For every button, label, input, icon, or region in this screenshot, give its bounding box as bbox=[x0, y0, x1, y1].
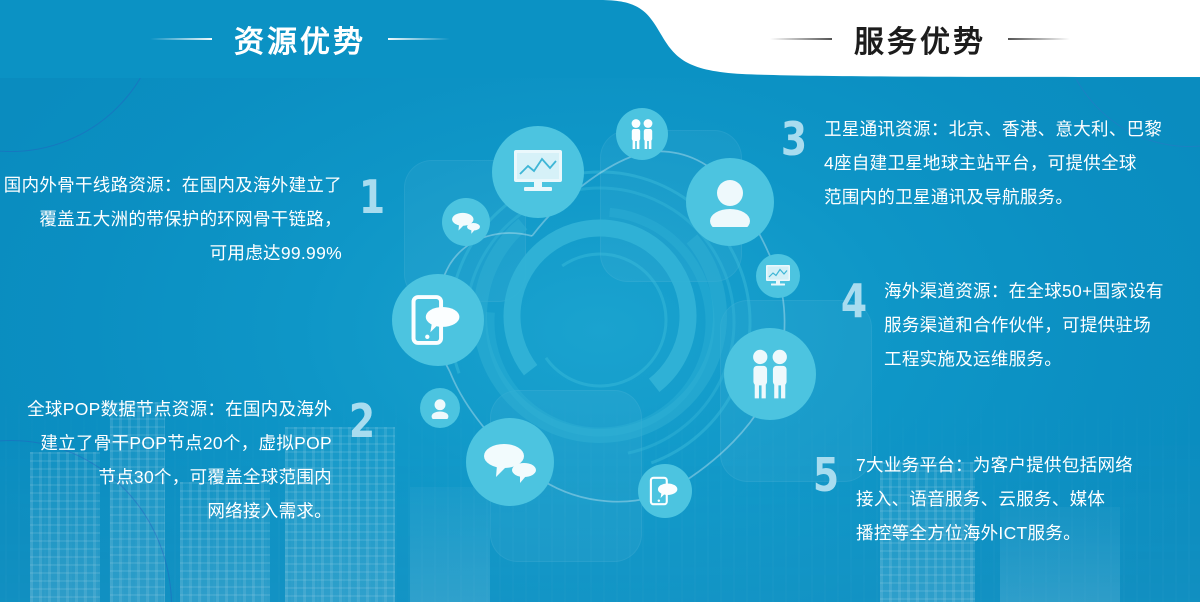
right-title-text: 服务优势 bbox=[854, 17, 986, 61]
right-section-title: 服务优势 bbox=[740, 0, 1100, 78]
advantage-item-2-text: 全球POP数据节点资源：在国内及海外 建立了骨干POP节点20个，虚拟POP 节… bbox=[27, 392, 332, 528]
advantage-item-1: 国内外骨干线路资源：在国内及海外建立了 覆盖五大洲的带保护的环网骨干链路， 可用… bbox=[0, 168, 400, 270]
node-speech-bubbles-bottom bbox=[466, 418, 554, 506]
two-people-icon bbox=[628, 118, 656, 150]
node-tablet-message-left bbox=[392, 274, 484, 366]
advantage-item-2: 全球POP数据节点资源：在国内及海外 建立了骨干POP节点20个，虚拟POP 节… bbox=[0, 392, 390, 528]
advantage-item-3-number: 3 bbox=[781, 116, 807, 162]
node-person-avatar-right bbox=[686, 158, 774, 246]
advantage-item-3-text: 卫星通讯资源：北京、香港、意大利、巴黎 4座自建卫星地球主站平台，可提供全球 范… bbox=[824, 112, 1162, 214]
title-rule-right bbox=[1008, 38, 1070, 40]
header-band: 资源优势 服务优势 bbox=[0, 0, 1200, 78]
node-monitor-chart-top bbox=[492, 126, 584, 218]
advantage-item-3: 3 卫星通讯资源：北京、香港、意大利、巴黎 4座自建卫星地球主站平台，可提供全球… bbox=[778, 112, 1198, 214]
speech-bubbles-icon bbox=[451, 210, 481, 235]
advantage-item-4: 4 海外渠道资源：在全球50+国家设有 服务渠道和合作伙伴，可提供驻场 工程实施… bbox=[838, 274, 1200, 376]
phone-message-icon bbox=[649, 476, 681, 506]
advantage-item-4-number: 4 bbox=[841, 278, 867, 324]
infographic-canvas: 资源优势 服务优势 国内外骨干线路资源：在国内及海外建立了 覆盖五大洲的带保护的… bbox=[0, 0, 1200, 602]
central-network-graphic bbox=[384, 96, 816, 544]
advantage-item-5-number: 5 bbox=[813, 452, 839, 498]
person-avatar-icon bbox=[429, 398, 451, 419]
node-monitor-chart-small bbox=[756, 254, 800, 298]
left-section-title: 资源优势 bbox=[130, 0, 470, 78]
advantage-item-4-text: 海外渠道资源：在全球50+国家设有 服务渠道和合作伙伴，可提供驻场 工程实施及运… bbox=[884, 274, 1164, 376]
node-phone-message-bottom bbox=[638, 464, 692, 518]
speech-bubbles-icon bbox=[482, 439, 538, 485]
left-title-text: 资源优势 bbox=[234, 17, 366, 61]
advantage-item-1-number: 1 bbox=[359, 174, 385, 220]
tablet-message-icon bbox=[410, 294, 466, 346]
person-avatar-icon bbox=[704, 177, 756, 227]
node-person-avatar-tiny bbox=[420, 388, 460, 428]
monitor-chart-icon bbox=[765, 264, 791, 288]
node-two-people-right bbox=[724, 328, 816, 420]
title-rule-left bbox=[150, 38, 212, 40]
advantage-item-1-text: 国内外骨干线路资源：在国内及海外建立了 覆盖五大洲的带保护的环网骨干链路， 可用… bbox=[4, 168, 342, 270]
advantage-item-5-text: 7大业务平台：为客户提供包括网络 接入、语音服务、云服务、媒体 播控等全方位海外… bbox=[856, 448, 1133, 550]
title-rule-left bbox=[770, 38, 832, 40]
two-people-icon bbox=[747, 348, 793, 400]
node-two-people-top bbox=[616, 108, 668, 160]
advantage-item-5: 5 7大业务平台：为客户提供包括网络 接入、语音服务、云服务、媒体 播控等全方位… bbox=[810, 448, 1200, 550]
node-speech-bubbles-tiny bbox=[442, 198, 490, 246]
monitor-chart-icon bbox=[512, 148, 564, 196]
advantage-item-2-number: 2 bbox=[349, 398, 375, 444]
title-rule-right bbox=[388, 38, 450, 40]
